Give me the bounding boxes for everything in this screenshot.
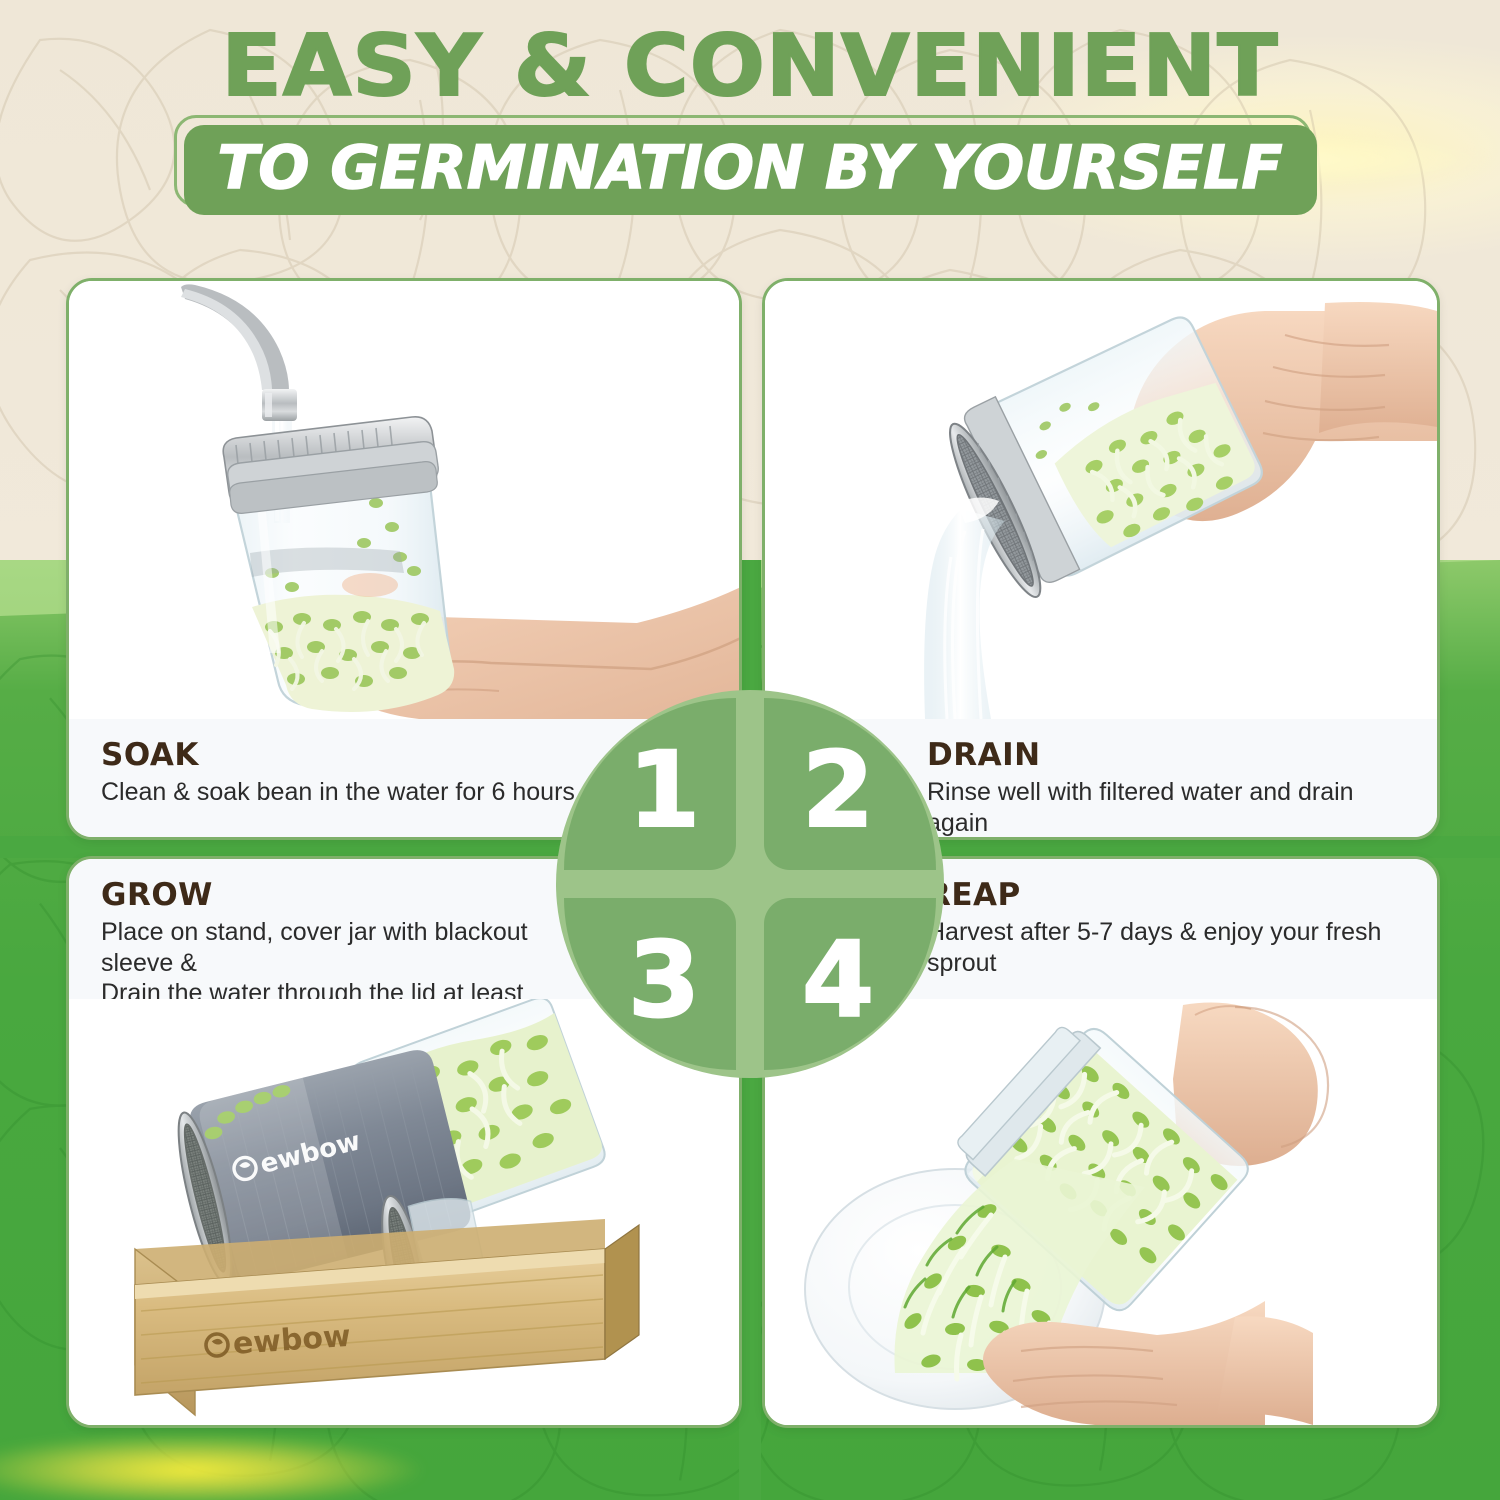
step-description: Rinse well with filtered water and drain… bbox=[927, 777, 1411, 838]
step-description-line: Place on stand, cover jar with blackout … bbox=[101, 917, 579, 978]
step-title: DRAIN bbox=[927, 737, 1411, 773]
step-number-2: 2 bbox=[802, 738, 874, 842]
headline-primary: EASY & CONVENIENT bbox=[0, 24, 1500, 109]
step-number-3: 3 bbox=[628, 928, 700, 1032]
headline-secondary-wrap: TO GERMINATION BY YOURSELF bbox=[184, 125, 1317, 215]
step-description-line: Harvest after 5-7 days & enjoy your fres… bbox=[927, 917, 1411, 978]
step-title: GROW bbox=[101, 877, 579, 913]
headline-block: EASY & CONVENIENT TO GERMINATION BY YOUR… bbox=[0, 24, 1500, 215]
headline-secondary: TO GERMINATION BY YOURSELF bbox=[184, 125, 1317, 215]
step-description: Clean & soak bean in the water for 6 hou… bbox=[101, 777, 579, 808]
step-number-1: 1 bbox=[628, 738, 700, 842]
step-photo-soak bbox=[69, 281, 739, 719]
step-number-badge-4: 4 bbox=[764, 898, 936, 1070]
step-description-line: Rinse well with filtered water and drain… bbox=[927, 777, 1411, 838]
step-description-line: Clean & soak bean in the water for 6 hou… bbox=[101, 777, 579, 808]
step-number-wheel: 1 2 3 4 bbox=[564, 698, 936, 1070]
infographic-stage: EASY & CONVENIENT TO GERMINATION BY YOUR… bbox=[0, 0, 1500, 1500]
step-number-badge-2: 2 bbox=[764, 698, 936, 870]
step-number-badge-1: 1 bbox=[564, 698, 736, 870]
step-description: Harvest after 5-7 days & enjoy your fres… bbox=[927, 917, 1411, 978]
step-photo-drain bbox=[765, 281, 1437, 719]
step-number-4: 4 bbox=[802, 928, 874, 1032]
step-number-badge-3: 3 bbox=[564, 898, 736, 1070]
step-title: SOAK bbox=[101, 737, 579, 773]
step-title: REAP bbox=[927, 877, 1411, 913]
